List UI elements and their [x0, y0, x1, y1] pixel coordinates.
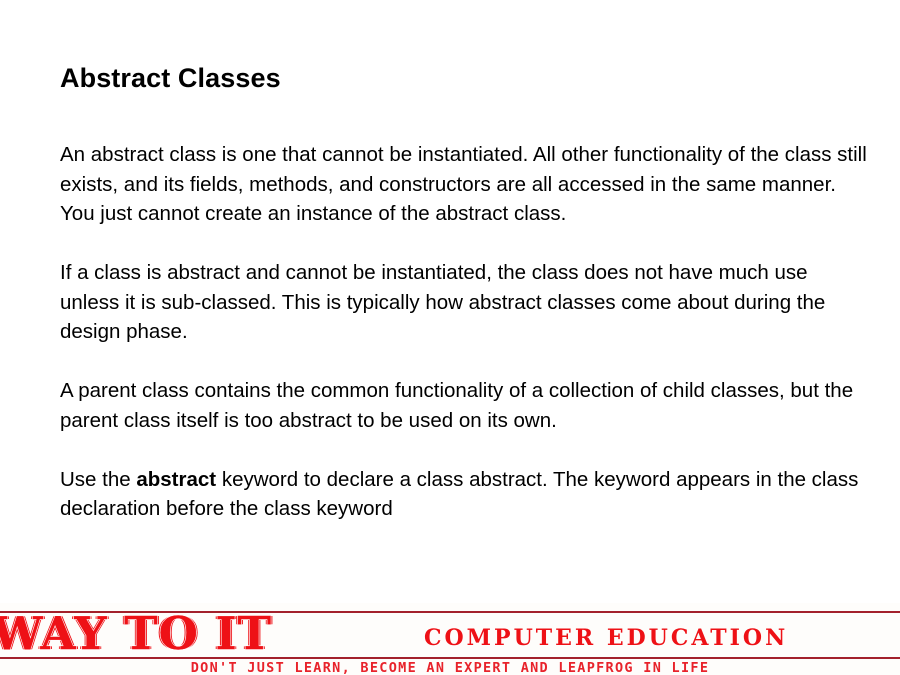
slide-canvas: Abstract Classes An abstract class is on… [0, 0, 900, 675]
brand-subtitle: COMPUTER EDUCATION [424, 625, 788, 651]
slide-body: An abstract class is one that cannot be … [60, 140, 870, 524]
body-paragraph-1: An abstract class is one that cannot be … [60, 140, 870, 229]
brand-tagline: DON'T JUST LEARN, BECOME AN EXPERT AND L… [0, 659, 900, 675]
brand-logo-row: WAY TO IT COMPUTER EDUCATION [0, 613, 900, 657]
brand-wordmark: WAY TO IT [0, 612, 272, 656]
abstract-keyword: abstract [136, 468, 216, 491]
footer-branding-banner: WAY TO IT COMPUTER EDUCATION DON'T JUST … [0, 603, 900, 675]
body-paragraph-3: A parent class contains the common funct… [60, 376, 870, 435]
body-paragraph-2: If a class is abstract and cannot be ins… [60, 258, 870, 347]
page-title: Abstract Classes [60, 64, 281, 94]
paragraph-4-lead-text: Use the [60, 468, 136, 491]
body-paragraph-4: Use the abstract keyword to declare a cl… [60, 465, 870, 524]
